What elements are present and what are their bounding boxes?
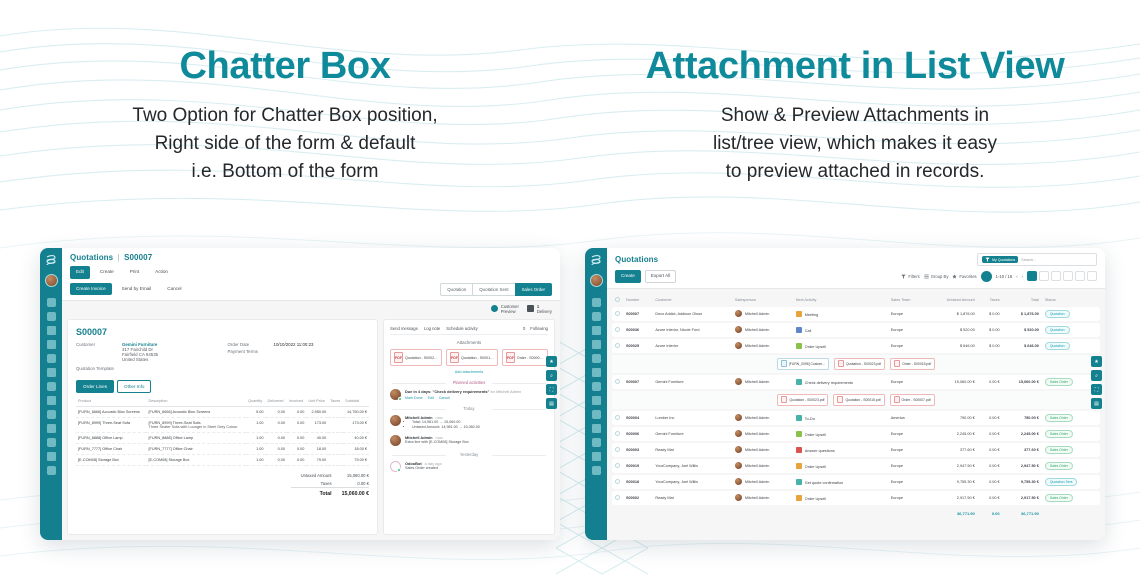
send-message-button[interactable]: Send message [390,326,418,331]
sidebar-icon-website[interactable] [47,452,56,461]
cell-number[interactable]: S00018 [623,475,652,489]
cell-untaxed: 2,245.00 € [926,427,977,441]
table-row[interactable]: S00036 Azure Interior, Nicole Ford Mitch… [612,323,1100,337]
app-sidebar-right[interactable] [585,248,607,540]
attachment-item[interactable]: PDF Quotation - S00010.pdf [446,349,498,366]
col-salesperson[interactable]: Salesperson [732,295,793,305]
export-all-button[interactable]: Export All [645,270,676,283]
table-row[interactable]: [FURN_7777] Office Chair [FURN_7777] Off… [76,444,369,455]
sidebar-icon-sales[interactable] [47,368,56,377]
col-taxes[interactable]: Taxes [328,397,343,407]
pdf-icon: PDF [450,352,459,363]
cell-taxes: $ 0.00 [978,307,1003,321]
sidebar-icon-messages[interactable] [592,298,601,307]
phone-icon [796,327,802,333]
total-row-untaxed: Untaxed Amount 15,060.00 € [291,471,369,479]
pdf-icon [894,360,900,367]
list-header-row: Number Customer Salesperson Next Activit… [612,295,1100,305]
field-customer[interactable]: Customer Gemini Furniture 317 Fairchild … [76,342,218,362]
attachment-name: Quotation - S00023.pdf [789,398,824,402]
sidebar-icon-calendar[interactable] [592,326,601,335]
table-row[interactable]: S00025 Azure Interior Mitchell Admin Ord… [612,339,1100,353]
cell-total: 15,060.00 € [1003,375,1042,389]
breadcrumb[interactable]: Quotations [615,255,658,264]
field-label-quotation-template: Quotation Template [76,366,114,371]
sidebar-icon-website[interactable] [592,452,601,461]
breadcrumb-separator: | [118,253,120,262]
status-badge: Sales Order [1045,462,1073,470]
col-invoiced[interactable]: Invoiced [287,397,306,407]
total-value-taxes: 0.00 € [332,479,369,488]
avatar[interactable] [590,274,603,287]
page-title-attachment-list-view: Attachment in List View [570,46,1140,88]
total-label-untaxed: Untaxed Amount [291,471,332,479]
cell-customer: Gemini Furniture [652,427,732,441]
pager[interactable]: 1-10 / 16 [996,274,1013,279]
chatter-message: Mitchell Adminnow Total: 14,981.00 → 15,… [390,415,548,430]
rail-icon-search[interactable]: ⌕ [1091,370,1102,381]
cell-product: [FURN_8888] Office Lamp [76,433,146,444]
cell-subtotal: 18.00 € [343,444,369,455]
cell-taxes: $ 0.00 [978,323,1003,337]
sidebar-icon-messages[interactable] [47,298,56,307]
avatar[interactable] [45,274,58,287]
table-row[interactable]: S00007 Gemini Furniture Mitchell Admin C… [612,375,1100,389]
status-badge: Quotation [1045,310,1070,318]
meeting-icon [796,311,802,317]
status-quotation[interactable]: Quotation [440,283,472,296]
cell-sales-team: Europe [888,307,927,321]
table-row[interactable]: S00007 Deco Addict, Addison Olson Mitche… [612,307,1100,321]
cell-description: [FURN_8888] Office Lamp [146,433,246,444]
cell-salesperson: Mitchell Admin [732,307,793,321]
field-quotation-template[interactable]: Quotation Template [76,366,218,371]
tab-order-lines[interactable]: Order Lines [76,380,114,393]
todo-icon [796,415,802,421]
smart-button-customer-preview[interactable]: Customer Preview [491,304,519,315]
attachment-name: Order - S00007.pdf [902,398,931,402]
cell-taxes [328,407,343,418]
following-button[interactable]: Following [530,326,548,331]
col-next-activity[interactable]: Next Activity [793,295,888,305]
cell-customer: YourCompany, Joel Willis [652,475,732,489]
cell-description: [FURN_8999] Three-Seat Sofa Three Seater… [146,418,246,433]
avatar [735,494,742,501]
message-bullet: Untaxed Amount: 14,981.00 → 15,060.00 [412,425,480,430]
mark-done-button[interactable]: Mark Done [405,396,423,400]
rail-icon-star[interactable]: ★ [546,356,557,367]
rail-icon-star[interactable]: ★ [1091,356,1102,367]
order-lines-table: Product Description Quantity Delivered I… [76,397,369,466]
col-product[interactable]: Product [76,397,146,407]
cell-number[interactable]: S00002 [623,491,652,505]
status-dot [398,397,402,401]
cell-untaxed: $ 1,876.00 [926,307,977,321]
cell-number[interactable]: S00036 [623,323,652,337]
cell-untaxed: 2,947.50 € [926,459,977,473]
cell-status: Sales Order [1042,459,1100,473]
chatter-message: Mitchell Adminnow Extra line with [E-COM… [390,435,548,446]
filters-dropdown[interactable]: Filters [901,274,919,279]
attachment-chip[interactable]: Quotation - S00015.pdf [833,394,884,406]
sidebar-icon-employees[interactable] [47,438,56,447]
cell-sales-team: Europe [888,375,927,389]
cell-description: [E-COM08] Storage Box [146,455,246,466]
sidebar-icon-inventory[interactable] [47,396,56,405]
table-row[interactable]: [E-COM08] Storage Box [E-COM08] Storage … [76,455,369,466]
cell-untaxed: $ 646.00 [926,339,977,353]
cell-next-activity: Call [793,323,888,337]
col-total[interactable]: Total [1003,295,1042,305]
col-number[interactable]: Number [623,295,652,305]
table-row[interactable]: S00018 YourCompany, Joel Willis Mitchell… [612,475,1100,489]
cell-delivered: 0.00 [266,455,287,466]
activity-item: Due in 4 days: "Check delivery requireme… [390,389,548,400]
cell-taxes: 0.00 € [978,411,1003,425]
pdf-icon [837,396,843,403]
table-row[interactable]: S00019 YourCompany, Joel Willis Mitchell… [612,459,1100,473]
row-checkbox[interactable] [615,327,620,332]
form-button-row: Edit Create Print Action [70,266,552,279]
cell-status: Sales Order [1042,443,1100,457]
cell-customer: Deco Addict, Addison Olson [652,307,732,321]
table-row[interactable]: S00006 Gemini Furniture Mitchell Admin O… [612,427,1100,441]
row-checkbox[interactable] [615,431,620,436]
cell-taxes: 0.00 € [978,443,1003,457]
col-untaxed-amount[interactable]: Untaxed Amount [926,295,977,305]
page-subtitle-chatter-box: Two Option for Chatter Box position, Rig… [0,102,570,186]
send-by-email-button[interactable]: Send by Email [116,283,158,296]
col-status[interactable]: Status [1042,295,1100,305]
view-calendar-button[interactable] [1051,271,1061,281]
col-taxes[interactable]: Taxes [978,295,1003,305]
cancel-button[interactable]: Cancel [161,283,187,296]
total-value-grand: 15,060.00 € [332,488,369,499]
activity-subject: "Check delivery requirements" [432,389,489,394]
cell-product: [FURN_6666] Acoustic Bloc Screens [76,407,146,418]
activity-assignee: for Mitchell Admin [490,389,521,394]
smart-button-delivery[interactable]: 1 Delivery [527,304,552,315]
sidebar-icon-employees[interactable] [592,438,601,447]
cell-number[interactable]: S00019 [623,459,652,473]
upsell-icon [796,495,802,501]
attachment-chip-list: [FURN_0096] Custom... Quotation - S00023… [615,358,1097,370]
calendar-icon [796,379,802,385]
cell-salesperson: Mitchell Admin [732,339,793,353]
cell-taxes: 0.00 € [978,459,1003,473]
screenshot-list-view: Quotations My Quotations Search... Creat… [585,248,1105,540]
log-note-button[interactable]: Log note [424,326,440,331]
view-activity-button[interactable] [1087,271,1097,281]
upsell-icon [796,463,802,469]
table-row[interactable]: [FURN_8888] Office Lamp [FURN_8888] Offi… [76,433,369,444]
status-badge: Sales Order [1045,430,1073,438]
search-icon[interactable] [981,271,992,282]
row-checkbox[interactable] [615,463,620,468]
day-divider-today: Today [390,406,548,411]
table-row[interactable]: [FURN_8999] Three-Seat Sofa [FURN_8999] … [76,418,369,433]
sidebar-icon-purchase[interactable] [47,382,56,391]
chatter-message: OdooBota day ago Sales Order created [390,461,548,472]
sidebar-icon-discuss[interactable] [47,312,56,321]
message-text: Sales Order created [405,466,442,471]
favorites-dropdown[interactable]: Favorites [952,274,976,279]
attachment-chip-list: Quotation - S00023.pdf Quotation - S0001… [615,394,1097,406]
create-invoice-button[interactable]: Create Invoice [70,283,112,296]
cell-sales-team: Europe [888,427,927,441]
upsell-icon [796,343,802,349]
cell-number[interactable]: S00007 [623,375,652,389]
total-label-grand: Total [291,488,332,499]
status-sales-order[interactable]: Sales Order [515,283,552,296]
cell-subtotal: 79.00 € [343,455,369,466]
cell-total: $ 646.00 [1003,339,1042,353]
cell-customer: Ready Mat [652,443,732,457]
cell-quantity: 1.00 [246,418,265,433]
cell-salesperson: Mitchell Admin [732,427,793,441]
status-quotation-sent[interactable]: Quotation Sent [472,283,514,296]
cell-status: Sales Order [1042,491,1100,505]
cell-taxes: 0.00 € [978,475,1003,489]
cell-number[interactable]: S00025 [623,339,652,353]
row-checkbox[interactable] [615,415,620,420]
cell-invoiced: 0.00 [287,444,306,455]
pdf-icon: PDF [506,352,515,363]
attachment-chip[interactable]: [FURN_0096] Custom... [777,358,829,370]
cell-total: $ 1,876.00 [1003,307,1042,321]
cell-number[interactable]: S00004 [623,411,652,425]
app-sidebar-left[interactable] [40,248,62,540]
avatar [390,435,401,446]
cancel-activity-button[interactable]: Cancel [439,396,450,400]
view-pivot-button[interactable] [1063,271,1073,281]
action-button[interactable]: Action [149,266,174,279]
rail-icon-layout[interactable]: ▤ [1091,398,1102,409]
col-customer[interactable]: Customer [652,295,732,305]
col-unit-price[interactable]: Unit Price [306,397,328,407]
rail-icon-expand[interactable]: ⛶ [1091,384,1102,395]
sidebar-icon-crm[interactable] [592,354,601,363]
total-label-taxes: Taxes [291,479,332,488]
attachment-chip[interactable]: Quotation - S00023.pdf [777,394,828,406]
avatar [390,415,401,426]
form-sheet: S00007 Customer Gemini Furniture 317 Fai… [62,314,560,540]
search-input[interactable]: My Quotations Search... [977,253,1097,266]
rail-icon-layout[interactable]: ▤ [546,398,557,409]
odoo-logo-icon[interactable] [43,253,59,269]
attachment-name: Quotation - S00023.pdf [405,356,438,360]
sidebar-icon-crm[interactable] [47,354,56,363]
cell-number[interactable]: S00003 [623,443,652,457]
breadcrumb[interactable]: Quotations | S00007 [70,253,152,262]
floating-action-rail-left: ★ ⌕ ⛶ ▤ [546,356,557,409]
search-placeholder: Search... [1021,258,1036,262]
list-body: S00007 Deco Addict, Addison Olson Mitche… [612,307,1100,520]
activity-due: Due in 4 days: [405,389,431,394]
cell-status: Quotation [1042,307,1100,321]
cell-sales-team: Europe [888,323,927,337]
row-checkbox[interactable] [615,343,620,348]
view-kanban-button[interactable] [1039,271,1049,281]
cell-customer: Ready Mat [652,491,732,505]
avatar [735,430,742,437]
sidebar-icon-contacts[interactable] [47,340,56,349]
sidebar-icon-purchase[interactable] [592,382,601,391]
row-checkbox[interactable] [615,379,620,384]
cell-salesperson: Mitchell Admin [732,491,793,505]
sidebar-icon-accounting[interactable] [47,424,56,433]
search-facet-label: My Quotations [992,258,1015,262]
row-checkbox[interactable] [615,311,620,316]
edit-button[interactable]: Edit [70,266,90,279]
avatar [735,446,742,453]
pager-previous-button[interactable]: ‹ [1016,274,1017,279]
field-label-customer: Customer [76,342,122,362]
sidebar-icon-settings[interactable] [592,466,601,475]
cell-invoiced: 0.00 [287,433,306,444]
table-row[interactable]: [FURN_6666] Acoustic Bloc Screens [FURN_… [76,407,369,418]
cell-customer: Azure Interior [652,339,732,353]
row-checkbox[interactable] [615,495,620,500]
group-icon [924,274,929,279]
attachment-item[interactable]: PDF Order - S00007.pdf [502,349,548,366]
odoo-logo-icon[interactable] [588,253,604,269]
col-subtotal[interactable]: Subtotal [343,397,369,407]
view-list-button[interactable] [1027,271,1037,281]
sidebar-icon-contacts[interactable] [592,340,601,349]
cell-next-activity: Order Upsell [793,459,888,473]
table-row[interactable]: S00003 Ready Mat Mitchell Admin Answer q… [612,443,1100,457]
order-lines-header: Product Description Quantity Delivered I… [76,397,369,407]
sidebar-icon-settings[interactable] [47,466,56,475]
delivery-label: Delivery [537,309,552,314]
headings-section: Chatter Box Two Option for Chatter Box p… [0,0,1140,230]
sidebar-icon-manufacturing[interactable] [47,410,56,419]
cell-untaxed: 9,755.30 € [926,475,977,489]
cell-number[interactable]: S00006 [623,427,652,441]
field-payment-terms[interactable]: Payment Terms [228,349,370,354]
search-facet[interactable]: My Quotations [982,256,1018,263]
cell-invoiced: 0.00 [287,407,306,418]
col-sales-team[interactable]: Sales Team [888,295,927,305]
cell-status: Quotation [1042,323,1100,337]
upsell-icon [796,431,802,437]
day-divider-yesterday: Yesterday [390,452,548,457]
cell-subtotal: 14,750.00 € [343,407,369,418]
delivery-count-label: 1 Delivery [537,304,552,315]
schedule-activity-button[interactable]: Schedule activity [446,326,477,331]
add-attachments-button[interactable]: Add attachments [390,370,548,374]
cell-total: 750.00 € [1003,411,1042,425]
form-fields-left: Customer Gemini Furniture 317 Fairchild … [76,342,218,373]
cell-total: 9,755.30 € [1003,475,1042,489]
cell-untaxed: 2,917.50 € [926,491,977,505]
sidebar-icon-inventory[interactable] [592,396,601,405]
attachment-name: Quotation - S00010.pdf [461,356,494,360]
cell-sales-team: Europe [888,339,927,353]
chatter-box: Send message Log note Schedule activity … [383,319,555,535]
status-bar[interactable]: Quotation Quotation Sent Sales Order [440,283,552,296]
pdf-icon [894,396,900,403]
attachment-chip[interactable]: Order - S00015.pdf [890,358,935,370]
filter-icon [985,257,990,262]
rail-icon-search[interactable]: ⌕ [546,370,557,381]
sidebar-icon-accounting[interactable] [592,424,601,433]
attachment-chip[interactable]: Quotation - S00023.pdf [834,358,885,370]
cell-total: 2,917.50 € [1003,491,1042,505]
sidebar-icon-sales[interactable] [592,368,601,377]
cell-sales-team: America [888,411,927,425]
table-row[interactable]: S00004 Lumber Inc Mitchell Admin To-Do A… [612,411,1100,425]
cell-customer: Azure Interior, Nicole Ford [652,323,732,337]
footer-untaxed: 36,771.90 [926,507,977,520]
col-quantity[interactable]: Quantity [246,397,265,407]
status-badge: Sales Order [1045,414,1073,422]
attachment-item[interactable]: PDF Quotation - S00023.pdf [390,349,442,366]
sidebar-icon-calendar[interactable] [47,326,56,335]
filter-icon [901,274,906,279]
create-button[interactable]: Create [94,266,120,279]
message-text: Extra line with [E-COM08] Storage Box [405,440,469,445]
status-badge: Sales Order [1045,494,1073,502]
select-all-checkbox[interactable] [615,297,620,302]
edit-activity-button[interactable]: Edit [428,396,434,400]
col-delivered[interactable]: Delivered [266,397,287,407]
field-value-customer[interactable]: Gemini Furniture 317 Fairchild Dr Fairfi… [122,342,158,362]
list-footer-totals: 36,771.90 0.00 36,771.90 [612,507,1100,520]
pager-next-button[interactable]: › [1022,274,1023,279]
smart-button-row: Customer Preview 1 Delivery [62,301,560,315]
smart-button-label: Customer Preview [501,304,519,315]
cell-customer: YourCompany, Joel Willis [652,459,732,473]
cell-status: Quotation Sent [1042,475,1100,489]
sidebar-icon-discuss[interactable] [592,312,601,321]
table-row[interactable]: S00002 Ready Mat Mitchell Admin Order Up… [612,491,1100,505]
print-button[interactable]: Print [124,266,145,279]
pdf-icon: PDF [394,352,403,363]
form-fields-right: Order Date 10/10/2022 11:00:23 Payment T… [228,342,370,373]
tab-other-info[interactable]: Other Info [117,380,151,393]
rail-icon-expand[interactable]: ⛶ [546,384,557,395]
col-description[interactable]: Description [146,397,246,407]
cell-unit-price: 2,950.00 [306,407,328,418]
follower-count[interactable]: 0 [523,326,525,331]
status-dot [397,468,401,472]
attachment-name: [FURN_0096] Custom... [789,362,825,366]
attachment-chip[interactable]: Order - S00007.pdf [890,394,935,406]
cell-taxes: $ 0.00 [978,339,1003,353]
cell-taxes: 0.00 € [978,375,1003,389]
cell-unit-price: 40.00 [306,433,328,444]
breadcrumb-root[interactable]: Quotations [70,253,113,262]
cell-subtotal: 173.00 € [343,418,369,433]
cell-unit-price: 173.00 [306,418,328,433]
cell-number[interactable]: S00007 [623,307,652,321]
row-checkbox[interactable] [615,447,620,452]
footer-taxes: 0.00 [978,507,1003,520]
cell-untaxed: 15,060.00 € [926,375,977,389]
group-by-dropdown[interactable]: Group By [924,274,949,279]
sidebar-icon-manufacturing[interactable] [592,410,601,419]
row-checkbox[interactable] [615,479,620,484]
field-order-date[interactable]: Order Date 10/10/2022 11:00:23 [228,342,370,347]
create-button[interactable]: Create [615,270,641,283]
cell-delivered: 0.00 [266,444,287,455]
avatar [390,389,401,400]
cell-total: 377.60 € [1003,443,1042,457]
view-graph-button[interactable] [1075,271,1085,281]
cell-sales-team: Europe [888,443,927,457]
